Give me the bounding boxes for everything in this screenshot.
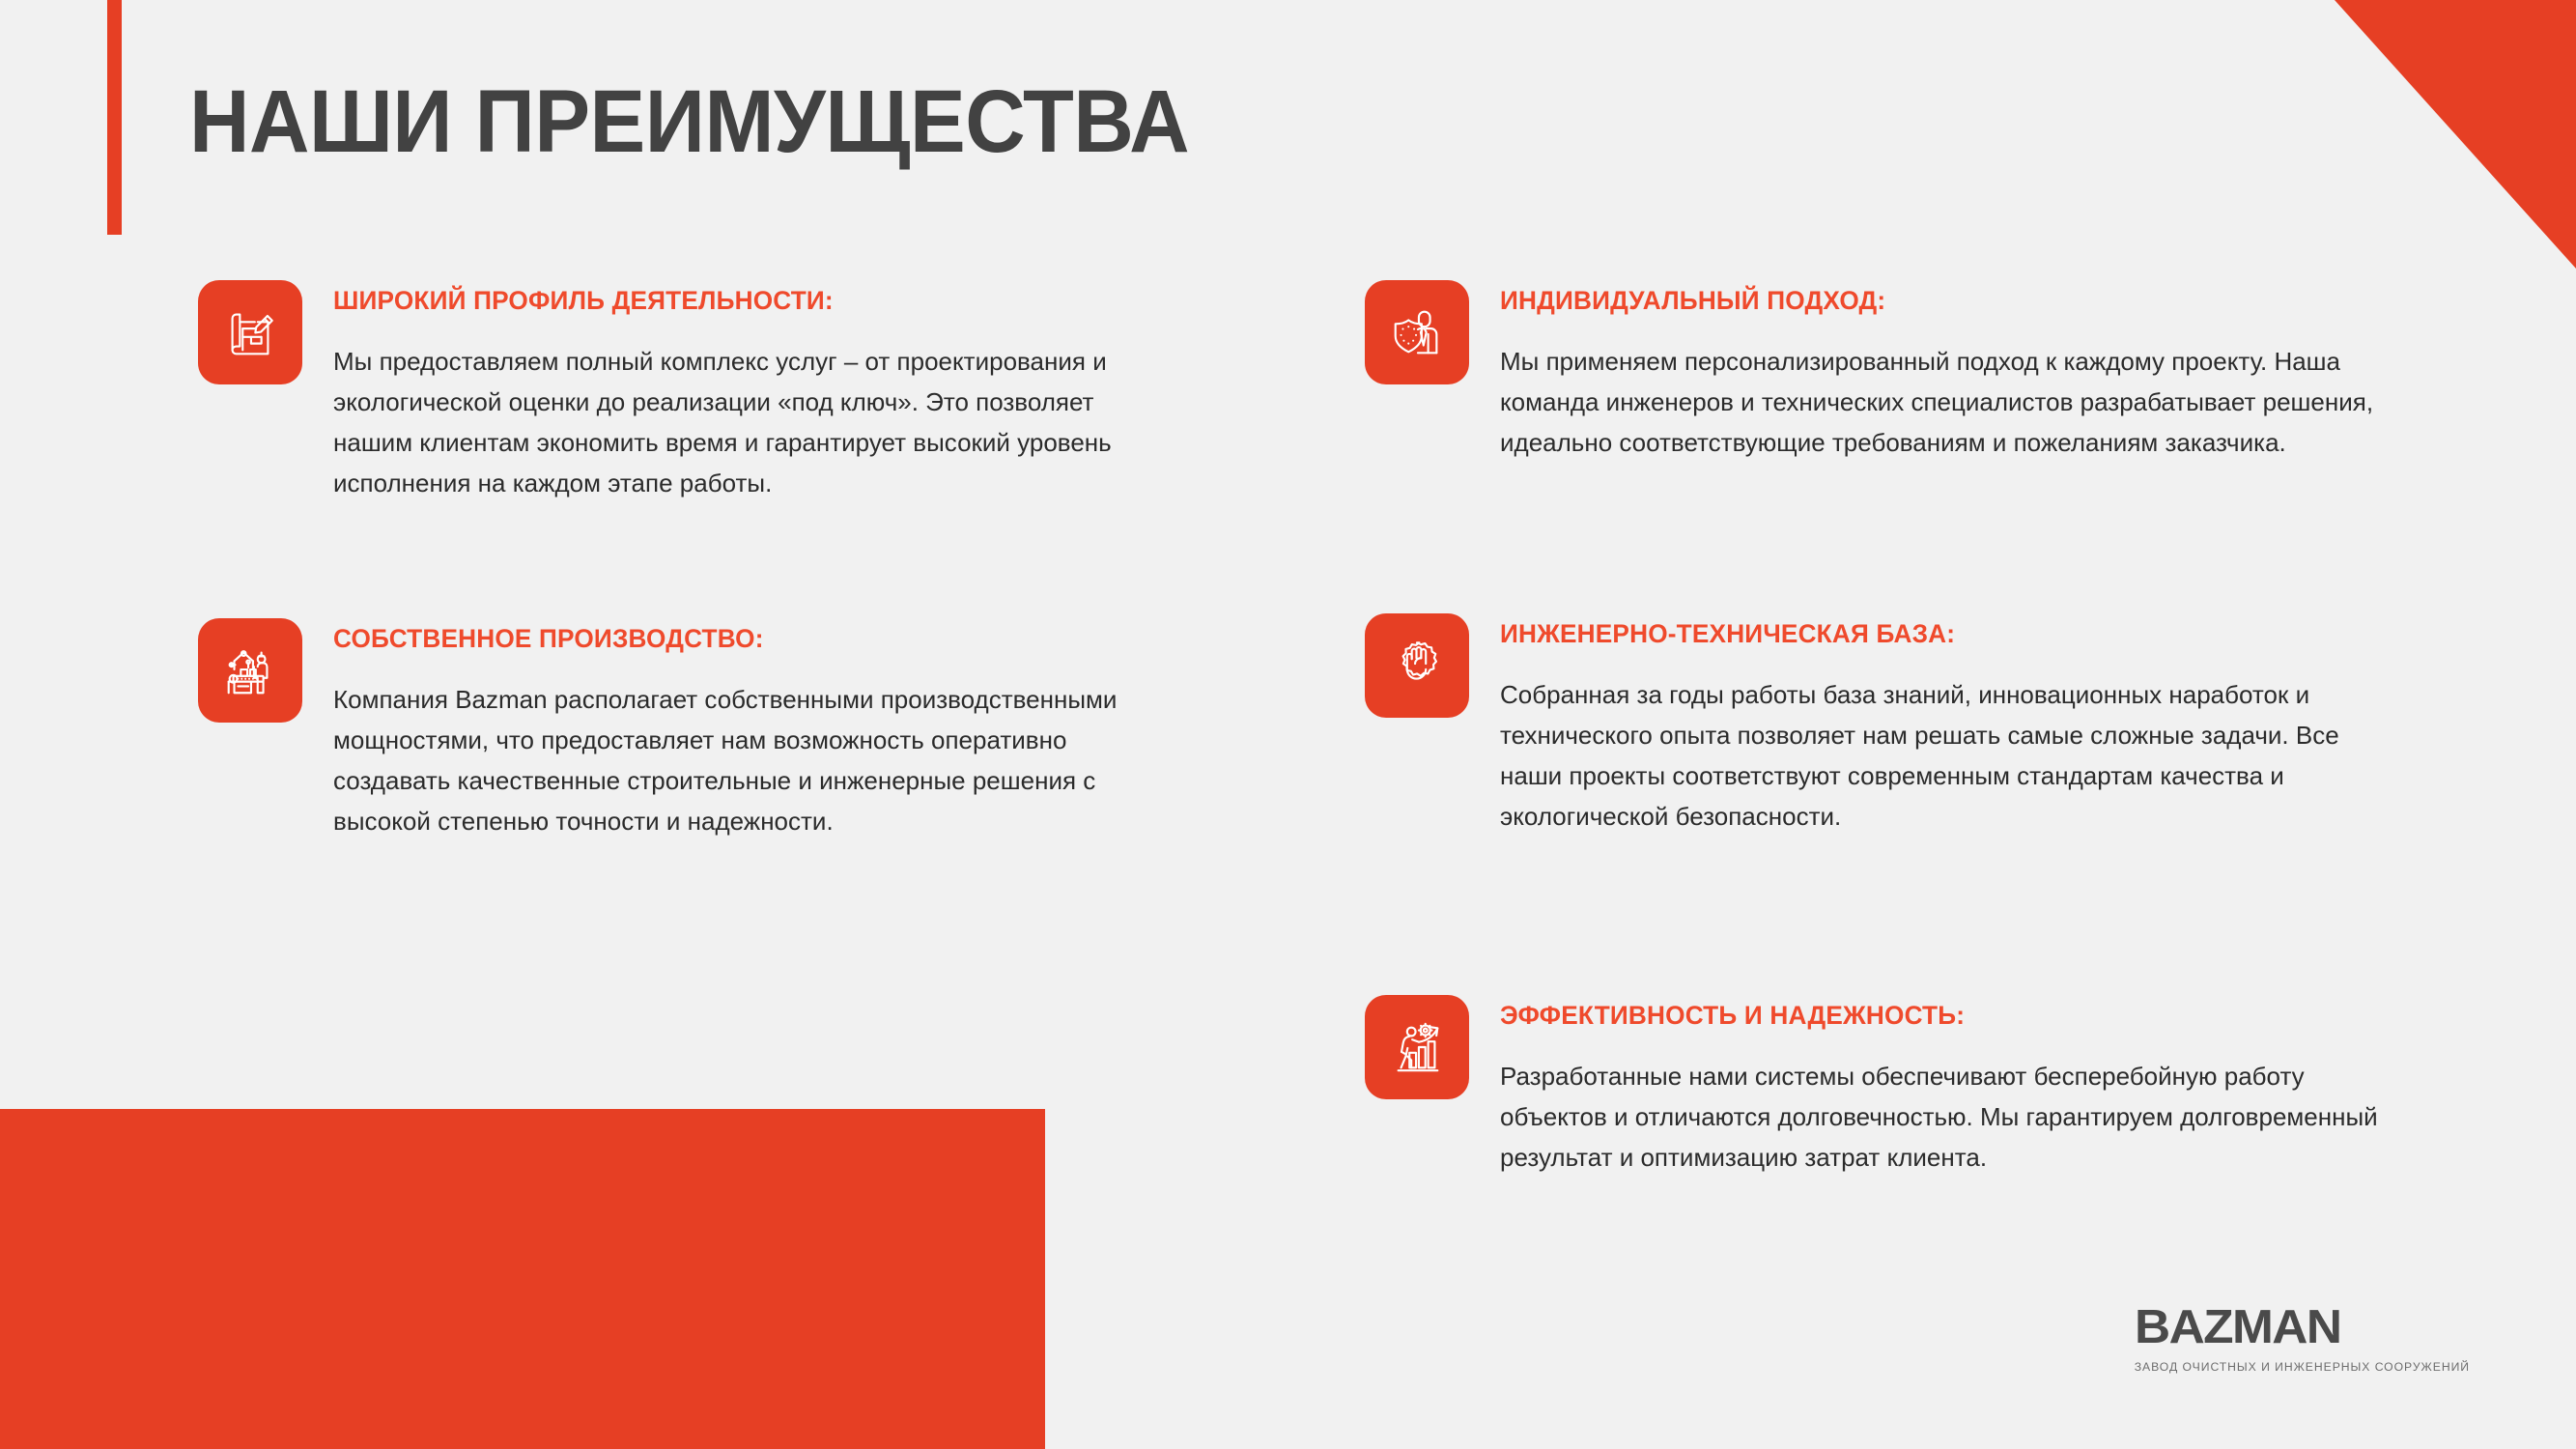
logo-tagline: ЗАВОД ОЧИСТНЫХ И ИНЖЕНЕРНЫХ СООРУЖЕНИЙ [2135, 1360, 2470, 1374]
feature-block-individual-approach: ИНДИВИДУАЛЬНЫЙ ПОДХОД: Мы применяем перс… [1365, 280, 2389, 463]
blueprint-pencil-icon [198, 280, 302, 384]
feature-text: Мы применяем персонализированный подход … [1500, 341, 2389, 463]
feature-title: ИНДИВИДУАЛЬНЫЙ ПОДХОД: [1500, 286, 2362, 316]
feature-title: ШИРОКИЙ ПРОФИЛЬ ДЕЯТЕЛЬНОСТИ: [333, 286, 1148, 316]
feature-block-engineering-base: ИНЖЕНЕРНО-ТЕХНИЧЕСКАЯ БАЗА: Собранная за… [1365, 613, 2389, 837]
logo-wordmark: BAZMAN [2135, 1304, 2487, 1351]
feature-text: Мы предоставляем полный комплекс услуг –… [333, 341, 1174, 503]
feature-text: Разработанные нами системы обеспечивают … [1500, 1056, 2389, 1178]
title-accent-bar [107, 0, 122, 235]
factory-production-icon [198, 618, 302, 723]
feature-text: Собранная за годы работы база знаний, ин… [1500, 674, 2389, 837]
feature-body: ИНДИВИДУАЛЬНЫЙ ПОДХОД: Мы применяем перс… [1500, 280, 2389, 463]
feature-body: СОБСТВЕННОЕ ПРОИЗВОДСТВО: Компания Bazma… [333, 618, 1174, 841]
feature-body: ЭФФЕКТИВНОСТЬ И НАДЕЖНОСТЬ: Разработанны… [1500, 995, 2389, 1178]
brand-logo: BAZMAN ЗАВОД ОЧИСТНЫХ И ИНЖЕНЕРНЫХ СООРУ… [2135, 1304, 2470, 1374]
corner-triangle-decoration [2335, 0, 2576, 269]
feature-body: ШИРОКИЙ ПРОФИЛЬ ДЕЯТЕЛЬНОСТИ: Мы предост… [333, 280, 1174, 503]
feature-text: Компания Bazman располагает собственными… [333, 679, 1174, 841]
growth-chart-icon [1365, 995, 1469, 1099]
page-title: НАШИ ПРЕИМУЩЕСТВА [189, 77, 1189, 166]
gear-fist-icon [1365, 613, 1469, 718]
bottom-left-color-block [0, 1109, 1045, 1449]
shield-person-icon [1365, 280, 1469, 384]
feature-title: ЭФФЕКТИВНОСТЬ И НАДЕЖНОСТЬ: [1500, 1001, 2362, 1031]
feature-block-wide-profile: ШИРОКИЙ ПРОФИЛЬ ДЕЯТЕЛЬНОСТИ: Мы предост… [198, 280, 1174, 503]
feature-block-own-production: СОБСТВЕННОЕ ПРОИЗВОДСТВО: Компания Bazma… [198, 618, 1174, 841]
feature-body: ИНЖЕНЕРНО-ТЕХНИЧЕСКАЯ БАЗА: Собранная за… [1500, 613, 2389, 837]
feature-title: СОБСТВЕННОЕ ПРОИЗВОДСТВО: [333, 624, 1148, 654]
feature-title: ИНЖЕНЕРНО-ТЕХНИЧЕСКАЯ БАЗА: [1500, 619, 2362, 649]
feature-block-efficiency-reliability: ЭФФЕКТИВНОСТЬ И НАДЕЖНОСТЬ: Разработанны… [1365, 995, 2389, 1178]
